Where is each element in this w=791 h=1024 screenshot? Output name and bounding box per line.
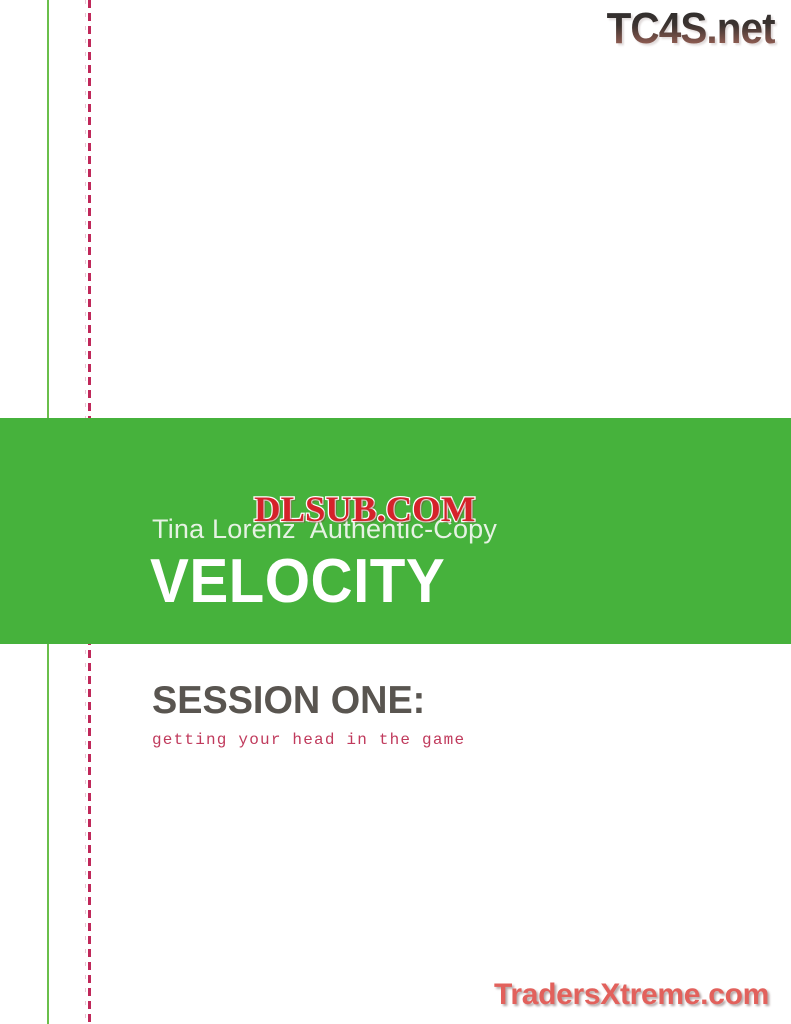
document-page: TC4S.net TC4S.net Tina Lorenz Authentic-… bbox=[0, 0, 791, 1024]
site-logo: TC4S.net bbox=[607, 4, 775, 54]
page-title: VELOCITY bbox=[150, 546, 445, 617]
session-heading: SESSION ONE: bbox=[152, 679, 425, 723]
center-watermark: DLSUB.COM bbox=[254, 488, 475, 530]
footer-watermark: TradersXtreme.com bbox=[494, 978, 769, 1012]
session-subtitle: getting your head in the game bbox=[152, 731, 465, 749]
